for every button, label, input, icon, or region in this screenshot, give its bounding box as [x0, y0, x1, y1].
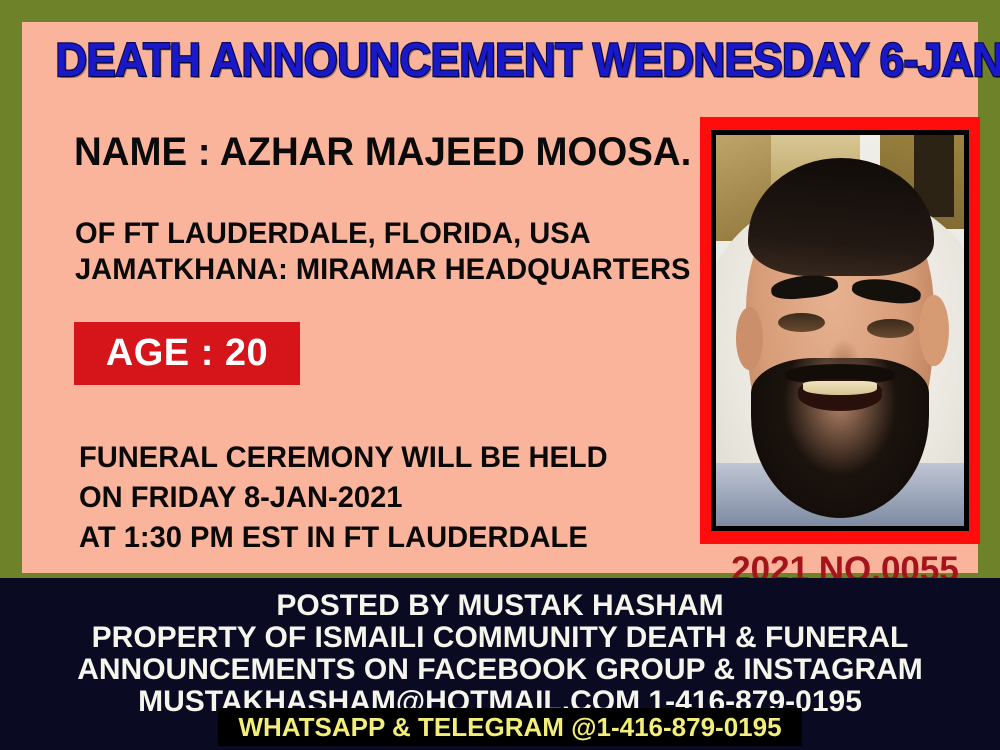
photo-frame	[700, 117, 980, 544]
funeral-line-2: ON FRIDAY 8-JAN-2021	[79, 480, 402, 516]
jamatkhana-line: JAMATKHANA: MIRAMAR HEADQUARTERS	[75, 252, 690, 288]
whatsapp-telegram-label: WHATSAPP & TELEGRAM @1-416-879-0195	[238, 712, 781, 743]
age-badge-label: AGE : 20	[106, 332, 268, 375]
banner-line-posted-by: POSTED BY MUSTAK HASHAM	[0, 588, 1000, 624]
deceased-city-line: OF FT LAUDERDALE, FLORIDA, USA	[75, 216, 591, 252]
poster-main-panel: DEATH ANNOUNCEMENT WEDNESDAY 6-JAN-2021 …	[22, 22, 978, 573]
age-badge: AGE : 20	[74, 322, 300, 385]
photo-ear-right	[919, 295, 949, 365]
banner-line-property-of: PROPERTY OF ISMAILI COMMUNITY DEATH & FU…	[0, 620, 1000, 656]
poster-title: DEATH ANNOUNCEMENT WEDNESDAY 6-JAN-2021	[55, 32, 944, 88]
funeral-line-1: FUNERAL CEREMONY WILL BE HELD	[79, 440, 608, 476]
photo-ear-left	[736, 307, 763, 370]
photo-teeth	[803, 381, 877, 395]
photo-inner-border	[711, 130, 969, 531]
funeral-line-3: AT 1:30 PM EST IN FT LAUDERDALE	[79, 520, 588, 556]
death-announcement-poster: DEATH ANNOUNCEMENT WEDNESDAY 6-JAN-2021 …	[0, 0, 1000, 750]
whatsapp-telegram-strip: WHATSAPP & TELEGRAM @1-416-879-0195	[218, 708, 802, 746]
banner-line-announcements: ANNOUNCEMENTS ON FACEBOOK GROUP & INSTAG…	[0, 652, 1000, 688]
deceased-name-line: NAME : AZHAR MAJEED MOOSA.	[74, 129, 691, 175]
deceased-portrait-photo	[716, 135, 964, 526]
